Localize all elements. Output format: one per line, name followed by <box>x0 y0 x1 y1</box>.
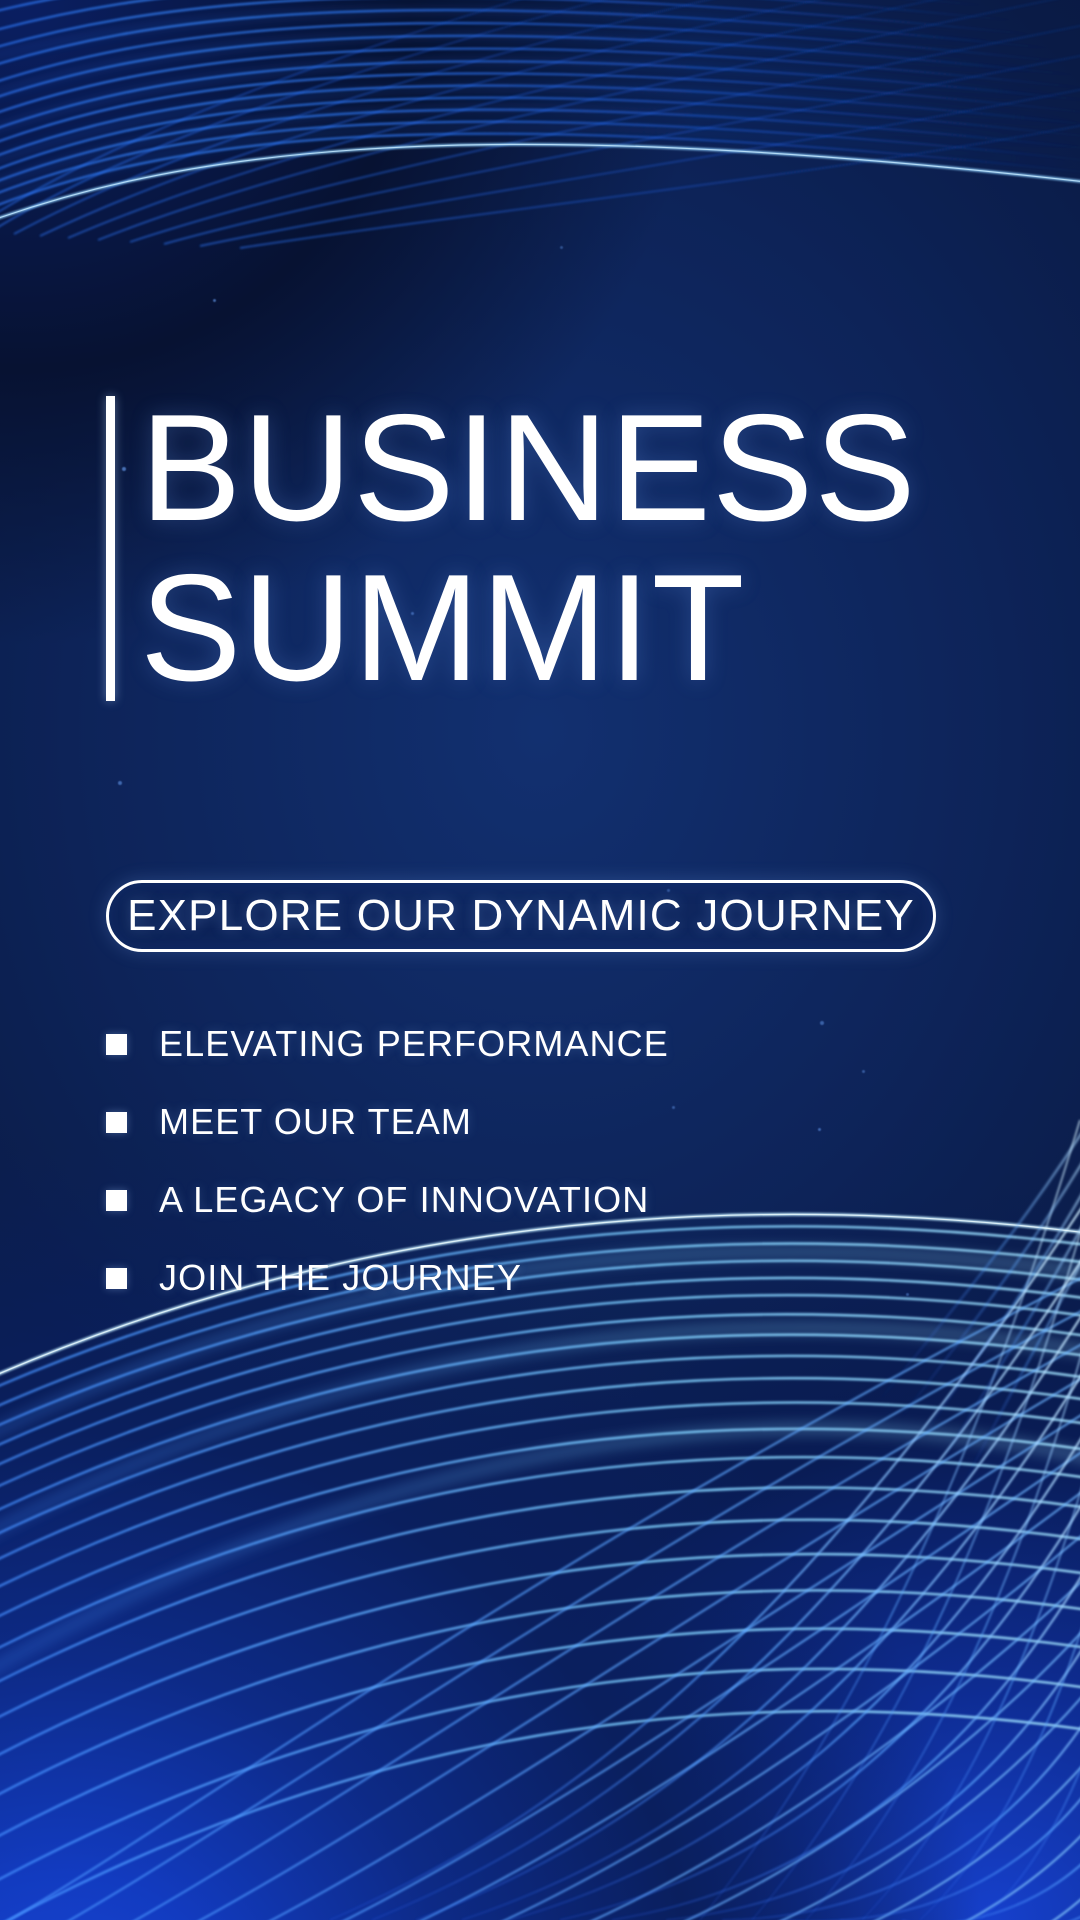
agenda-list: ELEVATING PERFORMANCE MEET OUR TEAM A LE… <box>106 1005 866 1317</box>
list-item-label: MEET OUR TEAM <box>159 1101 472 1143</box>
poster-canvas: BUSINESS SUMMIT EXPLORE OUR DYNAMIC JOUR… <box>0 0 1080 1920</box>
square-bullet-icon <box>106 1268 127 1289</box>
list-item-label: JOIN THE JOURNEY <box>159 1257 522 1299</box>
explore-journey-button[interactable]: EXPLORE OUR DYNAMIC JOURNEY <box>106 880 936 952</box>
list-item[interactable]: ELEVATING PERFORMANCE <box>106 1005 866 1083</box>
list-item[interactable]: MEET OUR TEAM <box>106 1083 866 1161</box>
title-line-1: BUSINESS <box>140 396 917 540</box>
title-line-2: SUMMIT <box>140 556 917 700</box>
explore-journey-button-label: EXPLORE OUR DYNAMIC JOURNEY <box>127 891 915 941</box>
poster-content: BUSINESS SUMMIT EXPLORE OUR DYNAMIC JOUR… <box>0 0 1080 1920</box>
square-bullet-icon <box>106 1190 127 1211</box>
square-bullet-icon <box>106 1112 127 1133</box>
list-item[interactable]: A LEGACY OF INNOVATION <box>106 1161 866 1239</box>
page-title: BUSINESS SUMMIT <box>106 396 917 701</box>
square-bullet-icon <box>106 1034 127 1055</box>
title-accent-bar <box>106 396 115 701</box>
list-item-label: A LEGACY OF INNOVATION <box>159 1179 649 1221</box>
list-item[interactable]: JOIN THE JOURNEY <box>106 1239 866 1317</box>
title-text-group: BUSINESS SUMMIT <box>140 396 917 701</box>
list-item-label: ELEVATING PERFORMANCE <box>159 1023 669 1065</box>
